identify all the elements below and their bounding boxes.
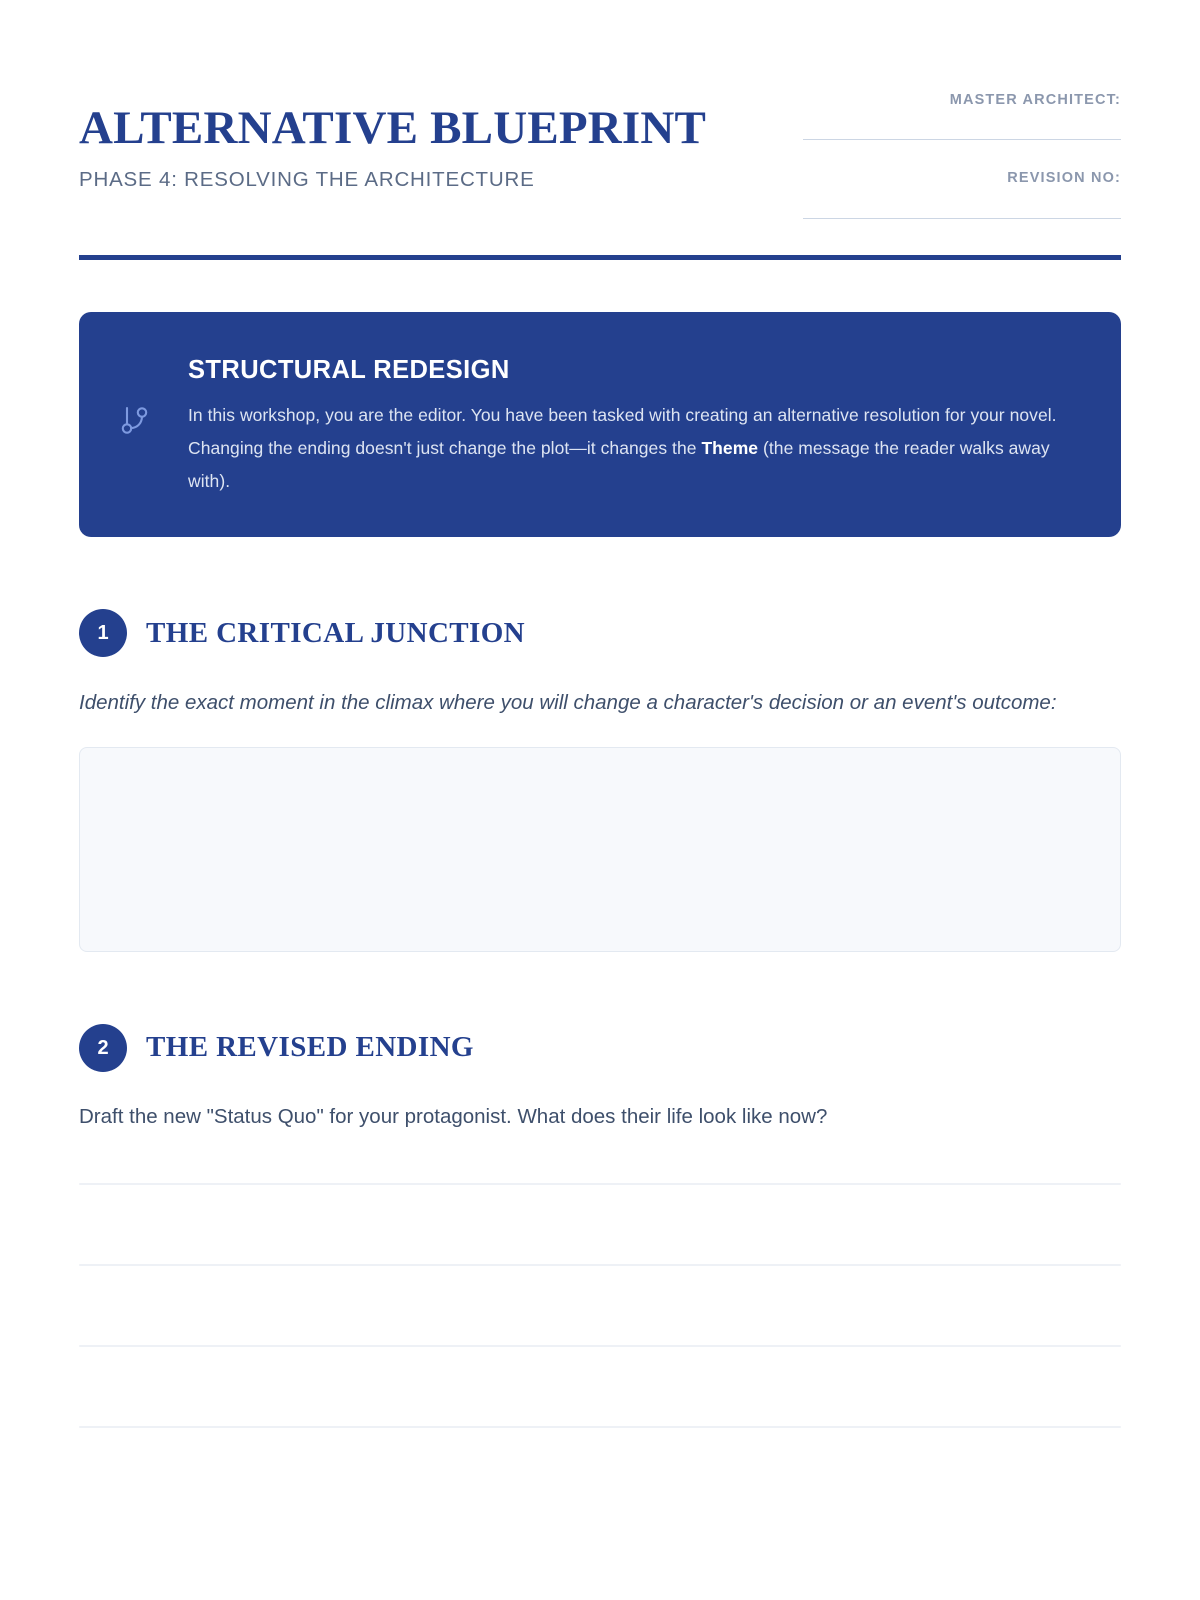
step-badge-2: 2 xyxy=(79,1024,127,1072)
callout-title: STRUCTURAL REDESIGN xyxy=(119,356,1081,385)
meta-label-master-architect: MASTER ARCHITECT: xyxy=(803,92,1121,109)
writing-line[interactable] xyxy=(79,1264,1121,1266)
section-1-header: 1 THE CRITICAL JUNCTION xyxy=(79,609,1121,657)
meta-input-revision-no[interactable] xyxy=(803,218,1121,219)
page-header: ALTERNATIVE BLUEPRINT PHASE 4: RESOLVING… xyxy=(79,0,1121,219)
callout-text-bold: Theme xyxy=(701,438,758,458)
git-branch-icon xyxy=(119,399,188,437)
section-1-title: THE CRITICAL JUNCTION xyxy=(146,617,525,650)
section-critical-junction: 1 THE CRITICAL JUNCTION Identify the exa… xyxy=(79,609,1121,951)
section-2-header: 2 THE REVISED ENDING xyxy=(79,1024,1121,1072)
header-meta-fields: MASTER ARCHITECT: REVISION NO: xyxy=(803,92,1121,219)
callout-text: In this workshop, you are the editor. Yo… xyxy=(188,399,1081,498)
structural-redesign-callout: STRUCTURAL REDESIGN In this workshop, yo… xyxy=(79,312,1121,538)
worksheet-page: ALTERNATIVE BLUEPRINT PHASE 4: RESOLVING… xyxy=(0,0,1200,1600)
section-2-prompt: Draft the new "Status Quo" for your prot… xyxy=(79,1102,1121,1133)
page-subtitle: PHASE 4: RESOLVING THE ARCHITECTURE xyxy=(79,168,706,192)
section-2-title: THE REVISED ENDING xyxy=(146,1031,474,1064)
step-badge-1: 1 xyxy=(79,609,127,657)
meta-field-master-architect: MASTER ARCHITECT: xyxy=(803,92,1121,140)
writing-line[interactable] xyxy=(79,1426,1121,1428)
meta-input-master-architect[interactable] xyxy=(803,139,1121,140)
page-title: ALTERNATIVE BLUEPRINT xyxy=(79,104,706,154)
callout-body: In this workshop, you are the editor. Yo… xyxy=(119,399,1081,498)
critical-junction-answer-box[interactable] xyxy=(79,747,1121,952)
writing-line[interactable] xyxy=(79,1345,1121,1347)
writing-line[interactable] xyxy=(79,1183,1121,1185)
header-divider xyxy=(79,255,1121,260)
section-revised-ending: 2 THE REVISED ENDING Draft the new "Stat… xyxy=(79,1024,1121,1429)
meta-field-revision-no: REVISION NO: xyxy=(803,170,1121,218)
section-1-prompt: Identify the exact moment in the climax … xyxy=(79,687,1089,718)
revised-ending-writing-lines xyxy=(79,1183,1121,1428)
meta-label-revision-no: REVISION NO: xyxy=(803,170,1121,187)
header-titles: ALTERNATIVE BLUEPRINT PHASE 4: RESOLVING… xyxy=(79,92,706,192)
